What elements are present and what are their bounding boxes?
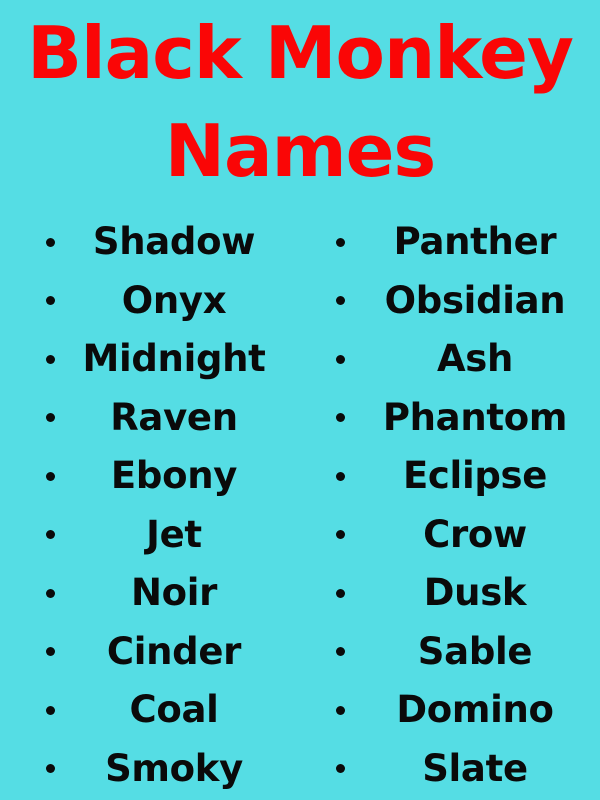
- bullet-icon: [336, 530, 345, 539]
- bullet-icon: [46, 706, 55, 715]
- title-line-2: Names: [0, 102, 600, 200]
- list-item-label: Sable: [372, 623, 578, 682]
- list-item: Dusk: [300, 564, 600, 623]
- list-item-label: Smoky: [80, 740, 268, 799]
- list-item-label: Shadow: [80, 213, 268, 272]
- list-item: Ebony: [0, 447, 300, 506]
- bullet-icon: [336, 413, 345, 422]
- list-item: Midnight: [0, 330, 300, 389]
- title-line-1: Black Monkey: [0, 4, 600, 102]
- bullet-icon: [336, 706, 345, 715]
- list-item: Sable: [300, 623, 600, 682]
- list-item-label: Cinder: [80, 623, 268, 682]
- list-item: Raven: [0, 389, 300, 448]
- bullet-icon: [46, 413, 55, 422]
- name-lists: Shadow Onyx Midnight Raven Ebony Jet: [0, 213, 600, 800]
- bullet-icon: [336, 238, 345, 247]
- list-item: Ash: [300, 330, 600, 389]
- bullet-icon: [336, 296, 345, 305]
- list-item: Jet: [0, 506, 300, 565]
- name-list-left: Shadow Onyx Midnight Raven Ebony Jet: [0, 213, 300, 800]
- poster-canvas: Black Monkey Names Shadow Onyx Midnight …: [0, 0, 600, 800]
- bullet-icon: [336, 589, 345, 598]
- list-item: Cinder: [0, 623, 300, 682]
- bullet-icon: [46, 355, 55, 364]
- list-item-label: Noir: [80, 564, 268, 623]
- list-item: Noir: [0, 564, 300, 623]
- bullet-icon: [336, 472, 345, 481]
- bullet-icon: [46, 647, 55, 656]
- list-item-label: Obsidian: [372, 272, 578, 331]
- list-item-label: Coal: [80, 681, 268, 740]
- list-item: Eclipse: [300, 447, 600, 506]
- list-item-label: Crow: [372, 506, 578, 565]
- list-item-label: Slate: [372, 740, 578, 799]
- list-item-label: Panther: [372, 213, 578, 272]
- list-item: Smoky: [0, 740, 300, 799]
- bullet-icon: [46, 530, 55, 539]
- list-item: Slate: [300, 740, 600, 799]
- name-list-right: Panther Obsidian Ash Phantom Eclipse Cro…: [300, 213, 600, 800]
- list-item-label: Midnight: [80, 330, 268, 389]
- bullet-icon: [46, 589, 55, 598]
- list-item-label: Domino: [372, 681, 578, 740]
- list-item-label: Onyx: [80, 272, 268, 331]
- bullet-icon: [46, 472, 55, 481]
- bullet-icon: [336, 355, 345, 364]
- bullet-icon: [336, 764, 345, 773]
- bullet-icon: [336, 647, 345, 656]
- list-item: Panther: [300, 213, 600, 272]
- list-item-label: Eclipse: [372, 447, 578, 506]
- list-item-label: Phantom: [372, 389, 578, 448]
- bullet-icon: [46, 296, 55, 305]
- bullet-icon: [46, 238, 55, 247]
- list-item: Phantom: [300, 389, 600, 448]
- list-item-label: Dusk: [372, 564, 578, 623]
- list-item: Crow: [300, 506, 600, 565]
- list-item: Onyx: [0, 272, 300, 331]
- list-item-label: Jet: [80, 506, 268, 565]
- list-item-label: Raven: [80, 389, 268, 448]
- list-item: Domino: [300, 681, 600, 740]
- bullet-icon: [46, 764, 55, 773]
- list-item: Coal: [0, 681, 300, 740]
- list-item: Shadow: [0, 213, 300, 272]
- list-item-label: Ash: [372, 330, 578, 389]
- page-title: Black Monkey Names: [0, 0, 600, 200]
- list-item-label: Ebony: [80, 447, 268, 506]
- list-item: Obsidian: [300, 272, 600, 331]
